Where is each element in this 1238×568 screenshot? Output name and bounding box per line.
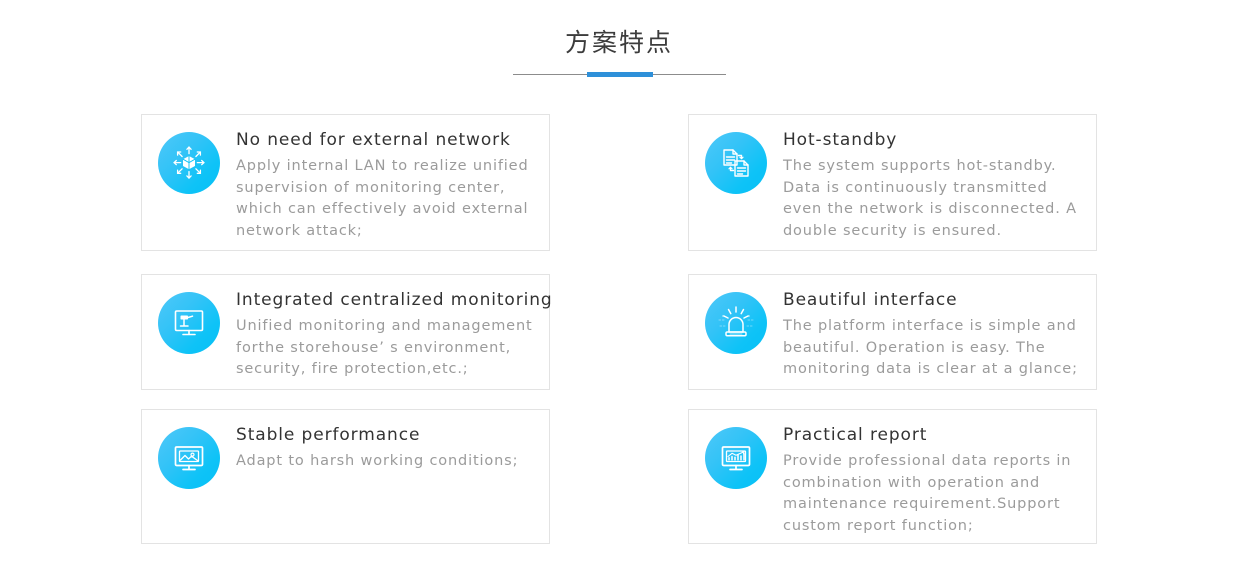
monitor-image-icon bbox=[158, 427, 220, 489]
card-body: Practical report Provide professional da… bbox=[783, 424, 1090, 537]
alarm-siren-icon bbox=[705, 292, 767, 354]
network-cube-icon bbox=[158, 132, 220, 194]
card-title: Practical report bbox=[783, 424, 1090, 446]
feature-card-grid: No need for external network Apply inter… bbox=[141, 114, 1097, 544]
feature-card-hot-standby[interactable]: Hot-standby The system supports hot-stan… bbox=[688, 114, 1097, 251]
card-body: Hot-standby The system supports hot-stan… bbox=[783, 129, 1090, 242]
card-title: Stable performance bbox=[236, 424, 543, 446]
card-description: Apply internal LAN to realize unified su… bbox=[236, 156, 536, 242]
card-description: Adapt to harsh working conditions; bbox=[236, 451, 543, 473]
feature-card-integrated-centralized-monitoring[interactable]: Integrated centralized monitoring Unifie… bbox=[141, 274, 550, 390]
card-body: Beautiful interface The platform interfa… bbox=[783, 289, 1090, 381]
page-title: 方案特点 bbox=[0, 28, 1238, 58]
document-sync-icon bbox=[705, 132, 767, 194]
card-body: Stable performance Adapt to harsh workin… bbox=[236, 424, 543, 473]
card-row-1: No need for external network Apply inter… bbox=[141, 114, 1097, 251]
page-header: 方案特点 bbox=[0, 0, 1238, 78]
feature-card-stable-performance[interactable]: Stable performance Adapt to harsh workin… bbox=[141, 409, 550, 544]
feature-card-beautiful-interface[interactable]: Beautiful interface The platform interfa… bbox=[688, 274, 1097, 390]
card-row-2: Integrated centralized monitoring Unifie… bbox=[141, 274, 1097, 390]
feature-card-practical-report[interactable]: Practical report Provide professional da… bbox=[688, 409, 1097, 544]
card-body: Integrated centralized monitoring Unifie… bbox=[236, 289, 543, 381]
card-body: No need for external network Apply inter… bbox=[236, 129, 543, 242]
card-title: Integrated centralized monitoring bbox=[236, 289, 543, 311]
title-divider bbox=[513, 72, 726, 78]
monitor-camera-icon bbox=[158, 292, 220, 354]
card-description: Provide professional data reports in com… bbox=[783, 451, 1090, 537]
card-description: The platform interface is simple and bea… bbox=[783, 316, 1090, 381]
card-title: Hot-standby bbox=[783, 129, 1090, 151]
card-title: No need for external network bbox=[236, 129, 543, 151]
monitor-chart-icon bbox=[705, 427, 767, 489]
feature-card-no-need-for-external-network[interactable]: No need for external network Apply inter… bbox=[141, 114, 550, 251]
card-description: Unified monitoring and management forthe… bbox=[236, 316, 536, 381]
divider-accent-bar bbox=[587, 72, 653, 77]
card-row-3: Stable performance Adapt to harsh workin… bbox=[141, 409, 1097, 544]
card-description: The system supports hot-standby. Data is… bbox=[783, 156, 1090, 242]
card-title: Beautiful interface bbox=[783, 289, 1090, 311]
